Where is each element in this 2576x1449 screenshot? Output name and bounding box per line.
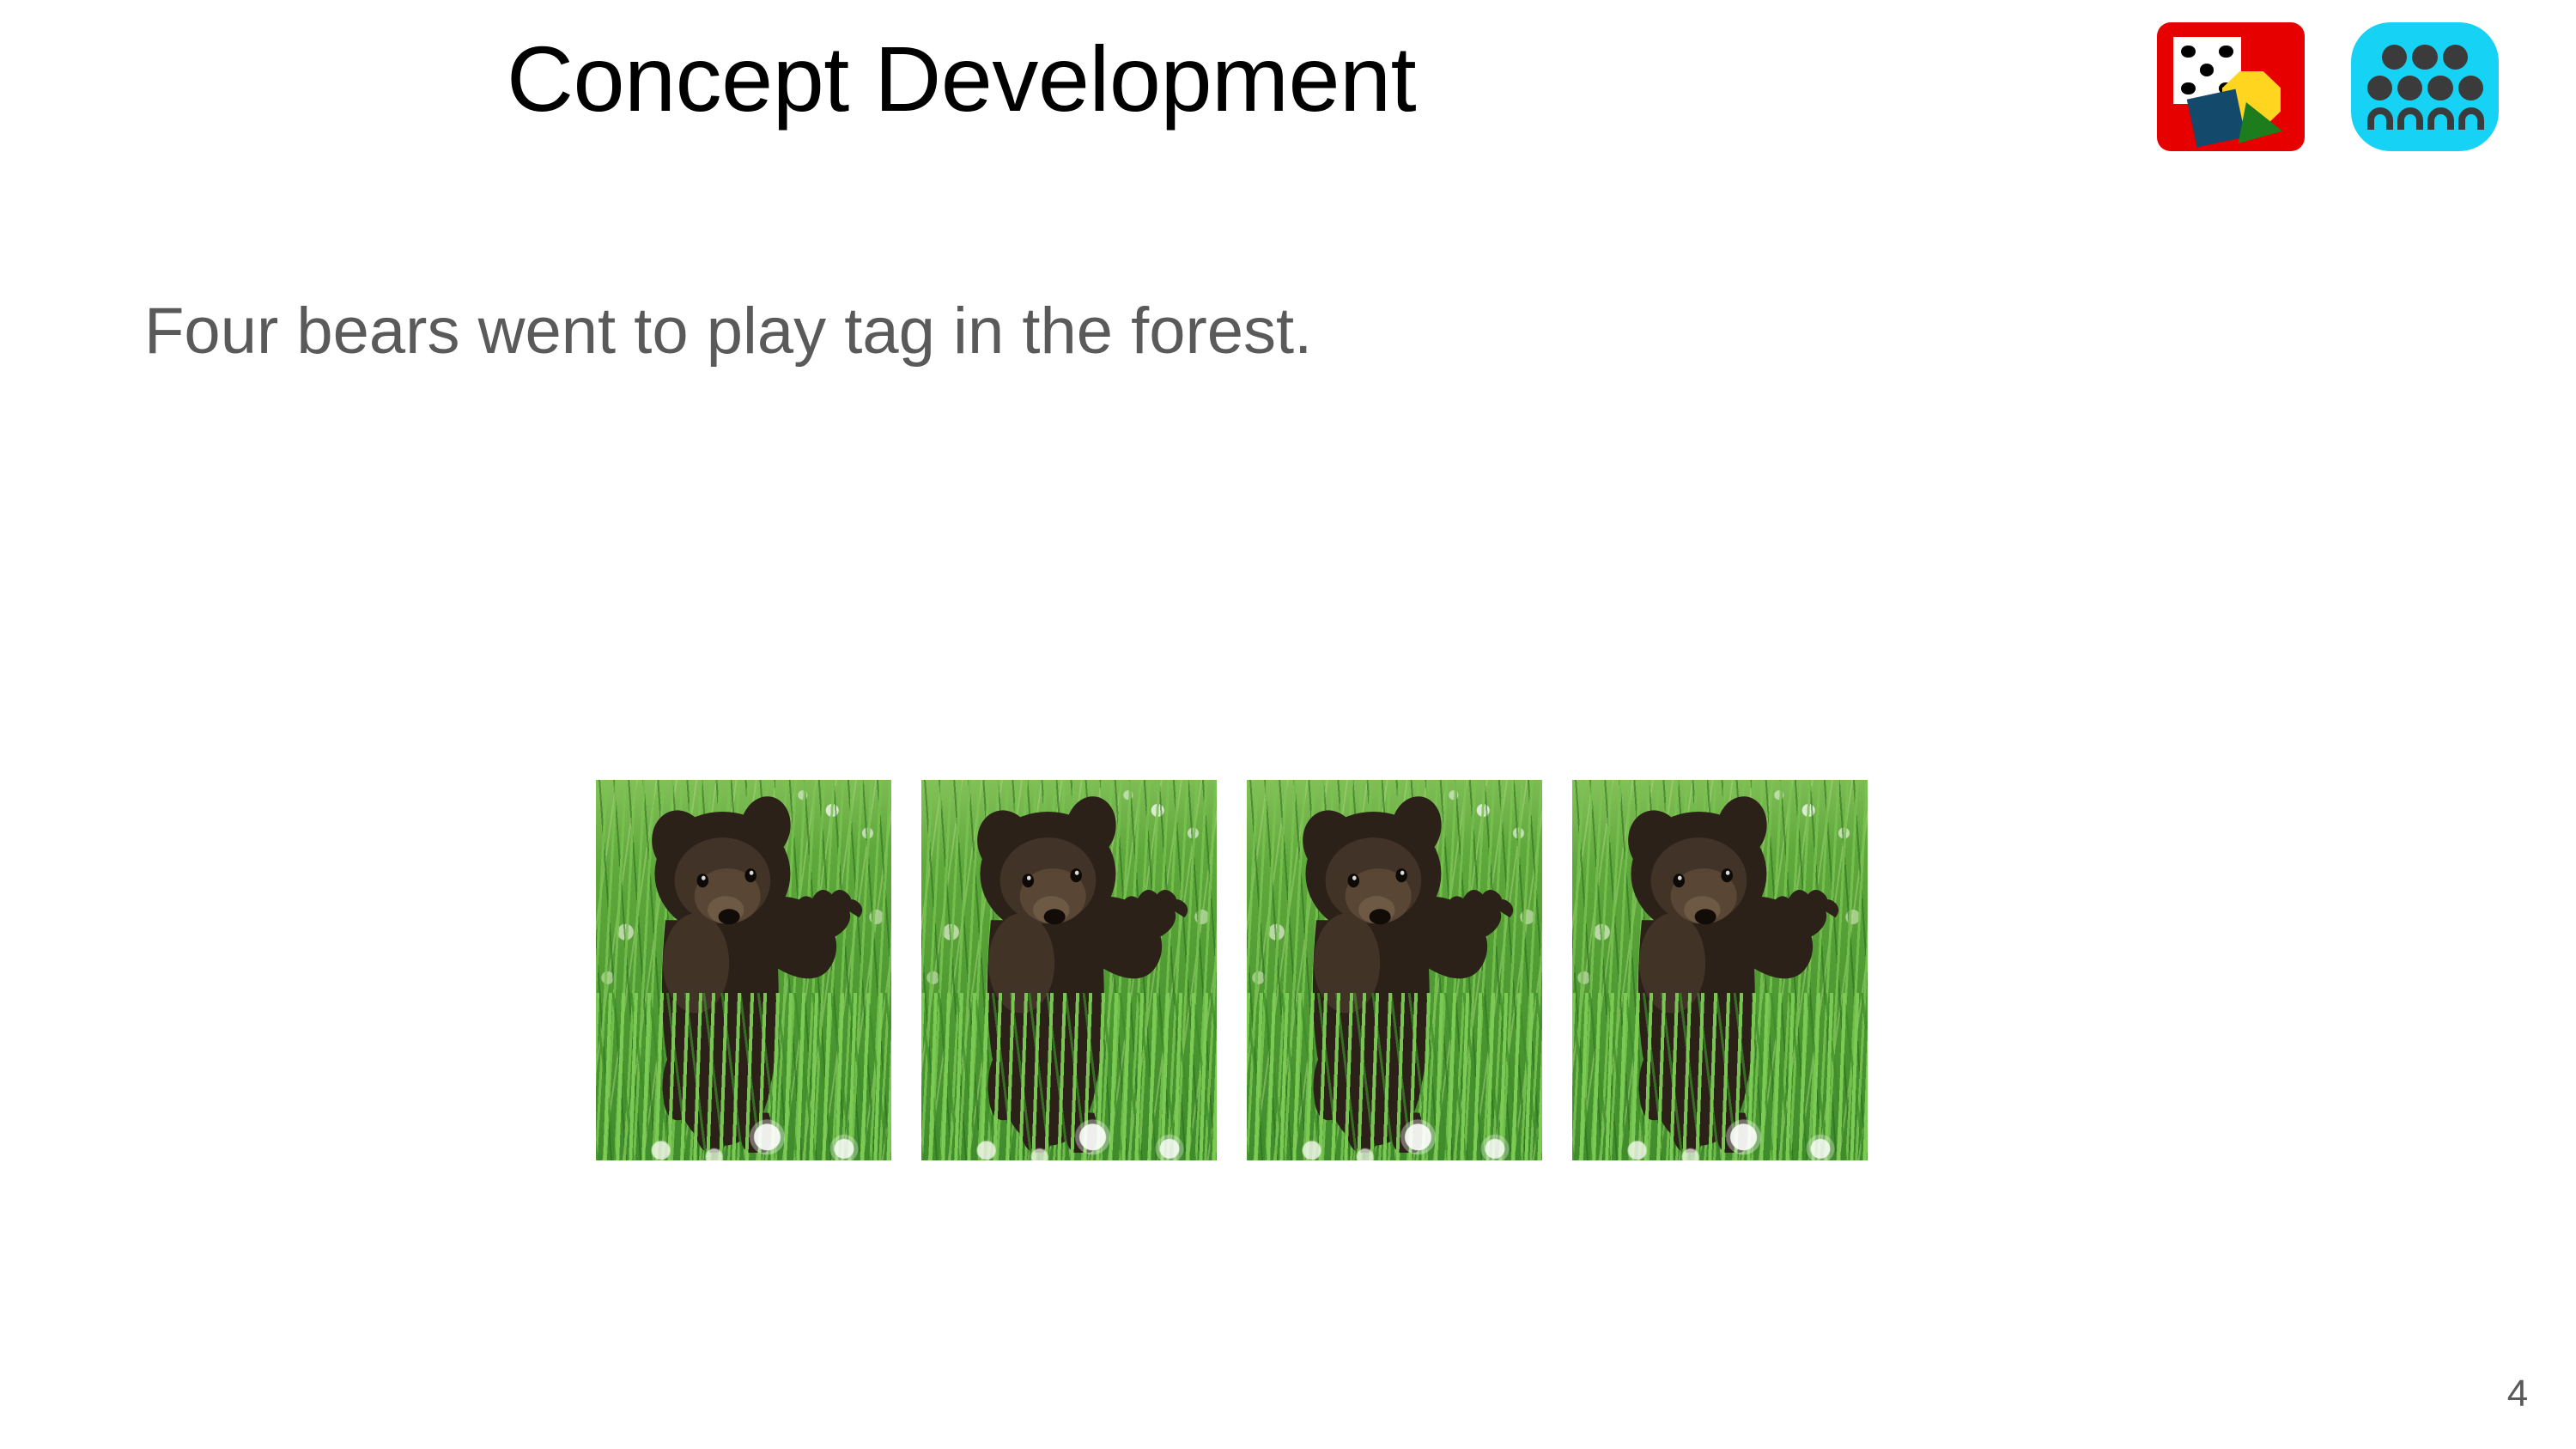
crowd-head-icon [2382, 45, 2407, 70]
crowd-body-icon [2367, 107, 2393, 130]
math-shapes-logo-icon [2157, 22, 2305, 151]
crowd-head-icon [2367, 76, 2392, 100]
bear-cub-photo [596, 780, 891, 1160]
crowd-head-icon [2458, 76, 2483, 100]
dice-pip [2181, 46, 2196, 58]
crowd-head-icon [2397, 76, 2422, 100]
blue-square-icon [2186, 88, 2245, 147]
dice-pip [2181, 82, 2196, 95]
dice-pip [2200, 64, 2215, 76]
crowd-body-icon [2458, 107, 2484, 130]
dandelion-cluster [921, 1077, 1217, 1160]
logo-strip [2157, 22, 2499, 151]
body-text: Four bears went to play tag in the fores… [144, 292, 2033, 370]
page-number: 4 [2490, 1373, 2545, 1416]
bear-cub-photo [921, 780, 1217, 1160]
bear-image-row [596, 780, 1868, 1160]
page-title: Concept Development [507, 24, 1966, 133]
crowd-body-icon [2427, 107, 2453, 130]
crowd-head-icon [2412, 45, 2437, 70]
crowd-head-icon [2427, 76, 2452, 100]
bear-cub-photo [1572, 780, 1868, 1160]
crowd-body-icon [2397, 107, 2423, 130]
dandelion-cluster [596, 1077, 891, 1160]
dice-pip [2219, 46, 2233, 58]
slide-canvas: Concept Development [0, 0, 2576, 1449]
crowd-head-icon [2443, 45, 2468, 70]
bear-cub-photo [1247, 780, 1542, 1160]
crowd-people-logo-icon [2351, 22, 2499, 151]
dandelion-cluster [1572, 1077, 1868, 1160]
dandelion-cluster [1247, 1077, 1542, 1160]
